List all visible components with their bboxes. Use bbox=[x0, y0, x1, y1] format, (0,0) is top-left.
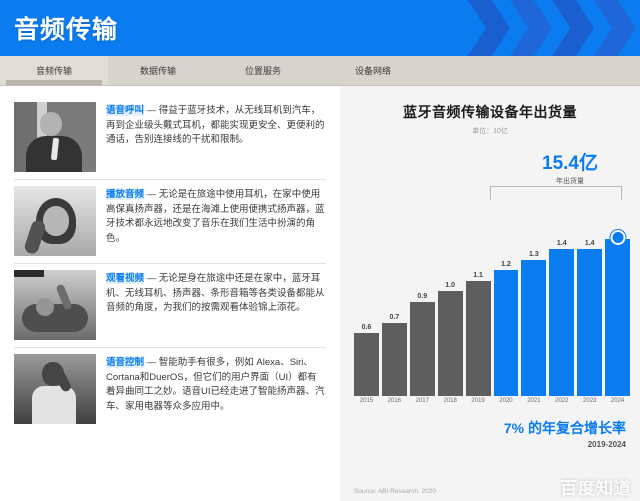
bar-column: 1.5 bbox=[605, 184, 630, 396]
chart-title: 蓝牙音频传输设备年出货量 bbox=[340, 86, 640, 122]
cagr-value: 7% 的年复合增长率 bbox=[504, 418, 626, 438]
x-axis-tick: 2019 bbox=[466, 398, 491, 404]
list-item[interactable]: 观看视频 — 无论是身在旅途中还是在家中，蓝牙耳机、无线耳机、扬声器、条形音箱等… bbox=[14, 264, 326, 348]
page-title: 音频传输 bbox=[14, 10, 118, 46]
list-item[interactable]: 播放音频 — 无论是在旅途中使用耳机，在家中使用高保真扬声器，还是在海滩上使用便… bbox=[14, 180, 326, 264]
cagr-callout: 7% 的年复合增长率 2019-2024 bbox=[504, 418, 626, 449]
kpi-callout: 15.4亿 年出货量 bbox=[522, 148, 618, 186]
kpi-value: 15.4亿 bbox=[522, 148, 618, 175]
chart-subtitle: 单位：10亿 bbox=[340, 122, 640, 136]
chevron-right-icon bbox=[590, 0, 636, 56]
watermark: 百度知道 bbox=[560, 474, 632, 499]
bar-column: 1.1 bbox=[466, 184, 491, 396]
bar bbox=[521, 260, 546, 396]
bar bbox=[354, 333, 379, 396]
bar-column: 1.2 bbox=[494, 184, 519, 396]
bar-column: 0.6 bbox=[354, 184, 379, 396]
bar bbox=[494, 270, 519, 396]
bar bbox=[577, 249, 602, 396]
feature-text: 语音控制 — 智能助手有很多，例如 Alexa、Siri、Cortana和Due… bbox=[106, 354, 326, 424]
feature-title: 播放音频 bbox=[106, 189, 144, 200]
bar-value-label: 1.4 bbox=[557, 240, 567, 247]
tab-location-services[interactable]: 位置服务 bbox=[208, 56, 318, 85]
bar-value-label: 1.3 bbox=[529, 251, 539, 258]
cagr-years: 2019-2024 bbox=[504, 440, 626, 449]
source-note: Source: ABI Research, 2020 bbox=[354, 488, 436, 495]
tab-bar: 音频传输 数据传输 位置服务 设备网络 bbox=[0, 56, 640, 86]
x-axis-ticks: 2015201620172018201920202021202220232024 bbox=[354, 398, 630, 404]
feature-list: 语音呼叫 — 得益于蓝牙技术，从无线耳机到汽车，再到企业级头戴式耳机，都能实现更… bbox=[0, 86, 340, 501]
bar-chart-plot: 0.60.70.91.01.11.21.31.41.41.5 bbox=[354, 184, 630, 396]
bar bbox=[549, 249, 574, 396]
chevron-right-icon bbox=[506, 0, 552, 56]
bar-value-label: 1.4 bbox=[585, 240, 595, 247]
x-axis-tick: 2022 bbox=[549, 398, 574, 404]
bar bbox=[466, 281, 491, 396]
feature-title: 语音呼叫 bbox=[106, 105, 144, 116]
feature-text: 观看视频 — 无论是身在旅途中还是在家中，蓝牙耳机、无线耳机、扬声器、条形音箱等… bbox=[106, 270, 326, 340]
bar-value-label: 0.6 bbox=[362, 324, 372, 331]
chevron-right-icon bbox=[464, 0, 510, 56]
tab-device-network[interactable]: 设备网络 bbox=[318, 56, 428, 85]
bar bbox=[438, 291, 463, 396]
person-relaxing-photo bbox=[14, 270, 96, 340]
bar-column: 1.3 bbox=[521, 184, 546, 396]
x-axis-tick: 2017 bbox=[410, 398, 435, 404]
x-axis-tick: 2015 bbox=[354, 398, 379, 404]
man-on-phone-photo bbox=[14, 354, 96, 424]
man-in-suit-photo bbox=[14, 102, 96, 172]
bar bbox=[382, 323, 407, 396]
x-axis-tick: 2020 bbox=[494, 398, 519, 404]
bar-column: 1.4 bbox=[577, 184, 602, 396]
content-area: 语音呼叫 — 得益于蓝牙技术，从无线耳机到汽车，再到企业级头戴式耳机，都能实现更… bbox=[0, 86, 640, 501]
bar-column: 0.9 bbox=[410, 184, 435, 396]
bar-value-label: 1.2 bbox=[501, 261, 511, 268]
tab-audio-transmission[interactable]: 音频传输 bbox=[0, 56, 108, 85]
feature-title: 语音控制 bbox=[106, 357, 144, 368]
chevron-right-icon bbox=[548, 0, 594, 56]
list-item[interactable]: 语音呼叫 — 得益于蓝牙技术，从无线耳机到汽车，再到企业级头戴式耳机，都能实现更… bbox=[14, 96, 326, 180]
bar-value-label: 0.9 bbox=[417, 293, 427, 300]
chart-panel: 蓝牙音频传输设备年出货量 单位：10亿 15.4亿 年出货量 0.60.70.9… bbox=[340, 86, 640, 501]
x-axis-tick: 2016 bbox=[382, 398, 407, 404]
bar-value-label: 1.1 bbox=[473, 272, 483, 279]
list-item[interactable]: 语音控制 — 智能助手有很多，例如 Alexa、Siri、Cortana和Due… bbox=[14, 348, 326, 431]
bar-value-label: 0.7 bbox=[389, 314, 399, 321]
bar-column: 1.4 bbox=[549, 184, 574, 396]
x-axis-tick: 2023 bbox=[577, 398, 602, 404]
feature-title: 观看视频 bbox=[106, 273, 144, 284]
page-header: 音频传输 bbox=[0, 0, 640, 56]
bar-column: 0.7 bbox=[382, 184, 407, 396]
bar bbox=[605, 239, 630, 396]
bar-value-label: 1.0 bbox=[445, 282, 455, 289]
chevron-decoration bbox=[440, 0, 640, 56]
woman-smiling-photo bbox=[14, 186, 96, 256]
feature-text: 语音呼叫 — 得益于蓝牙技术，从无线耳机到汽车，再到企业级头戴式耳机，都能实现更… bbox=[106, 102, 326, 172]
x-axis-tick: 2024 bbox=[605, 398, 630, 404]
feature-text: 播放音频 — 无论是在旅途中使用耳机，在家中使用高保真扬声器，还是在海滩上使用便… bbox=[106, 186, 326, 256]
bar bbox=[410, 302, 435, 396]
x-axis-tick: 2021 bbox=[521, 398, 546, 404]
tab-data-transmission[interactable]: 数据传输 bbox=[108, 56, 208, 85]
bar-column: 1.0 bbox=[438, 184, 463, 396]
x-axis-tick: 2018 bbox=[438, 398, 463, 404]
